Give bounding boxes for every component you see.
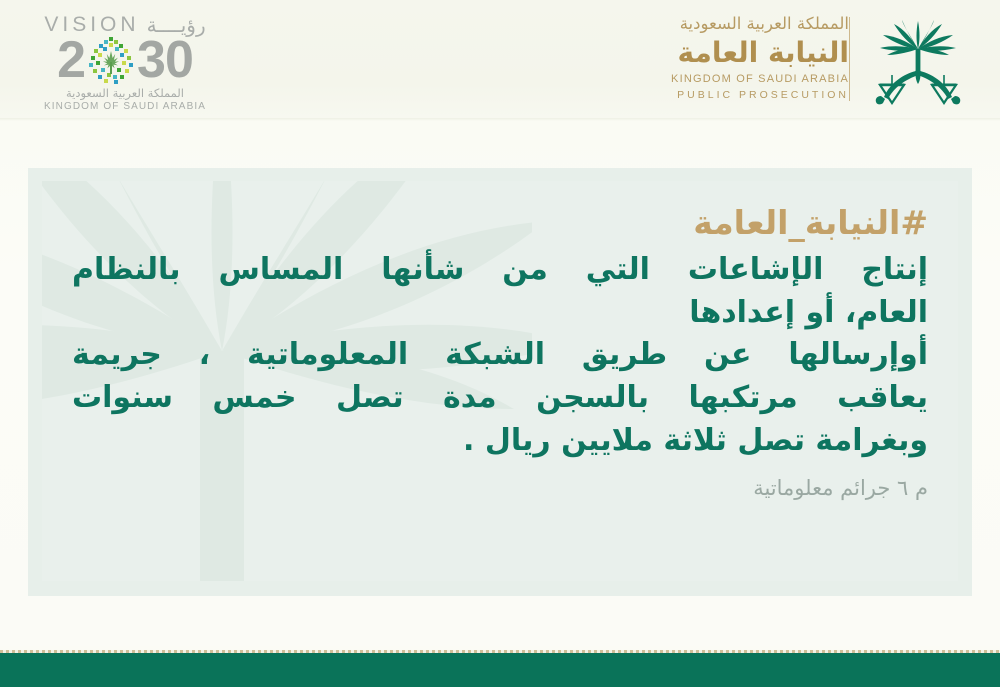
prosecution-kingdom-en: KINGDOM OF SAUDI ARABIA <box>671 71 849 88</box>
vision-kingdom-en: KINGDOM OF SAUDI ARABIA <box>30 100 220 113</box>
message-text-block: #النيابة_العامة إنتاج الإشاعات التي من ش… <box>42 181 958 581</box>
message-line-2: العام، أو إعدادها <box>72 292 928 335</box>
hashtag-line: #النيابة_العامة <box>72 203 928 243</box>
footer-bar <box>0 653 1000 687</box>
vision-subtitle-block: المملكة العربية السعودية KINGDOM OF SAUD… <box>30 86 220 113</box>
vision-digits-row: 2 <box>30 36 220 84</box>
prosecution-text-block: المملكة العربية السعودية النيابة العامة … <box>657 14 849 104</box>
message-line-1: إنتاج الإشاعات التي من شأنها المساس بالن… <box>72 249 928 292</box>
prosecution-name-ar: النيابة العامة <box>671 36 849 70</box>
saudi-palm-swords-scales-emblem <box>864 9 972 109</box>
vision-2030-logo: VISION رؤيــــة 2 <box>30 9 220 109</box>
prosecution-name-en: PUBLIC PROSECUTION <box>671 88 849 104</box>
header-divider <box>0 118 1000 121</box>
message-line-4: يعاقب مرتكبها بالسجن مدة تصل خمس سنوات <box>72 377 928 420</box>
vision-digit-2: 2 <box>57 34 85 86</box>
logo-divider <box>849 17 850 101</box>
legal-citation: م ٦ جرائم معلوماتية <box>72 474 928 503</box>
page-header: VISION رؤيــــة 2 <box>0 0 1000 118</box>
message-line-5: وبغرامة تصل ثلاثة ملايين ريال . <box>72 420 928 463</box>
poster-canvas: VISION رؤيــــة 2 <box>0 0 1000 687</box>
vision-digit-30: 30 <box>137 34 193 86</box>
prosecution-kingdom-ar: المملكة العربية السعودية <box>671 14 849 35</box>
public-prosecution-logo: المملكة العربية السعودية النيابة العامة … <box>657 9 972 109</box>
vision-mosaic-icon <box>86 35 136 85</box>
message-line-3: أوإرسالها عن طريق الشبكة المعلوماتية ، ج… <box>72 334 928 377</box>
